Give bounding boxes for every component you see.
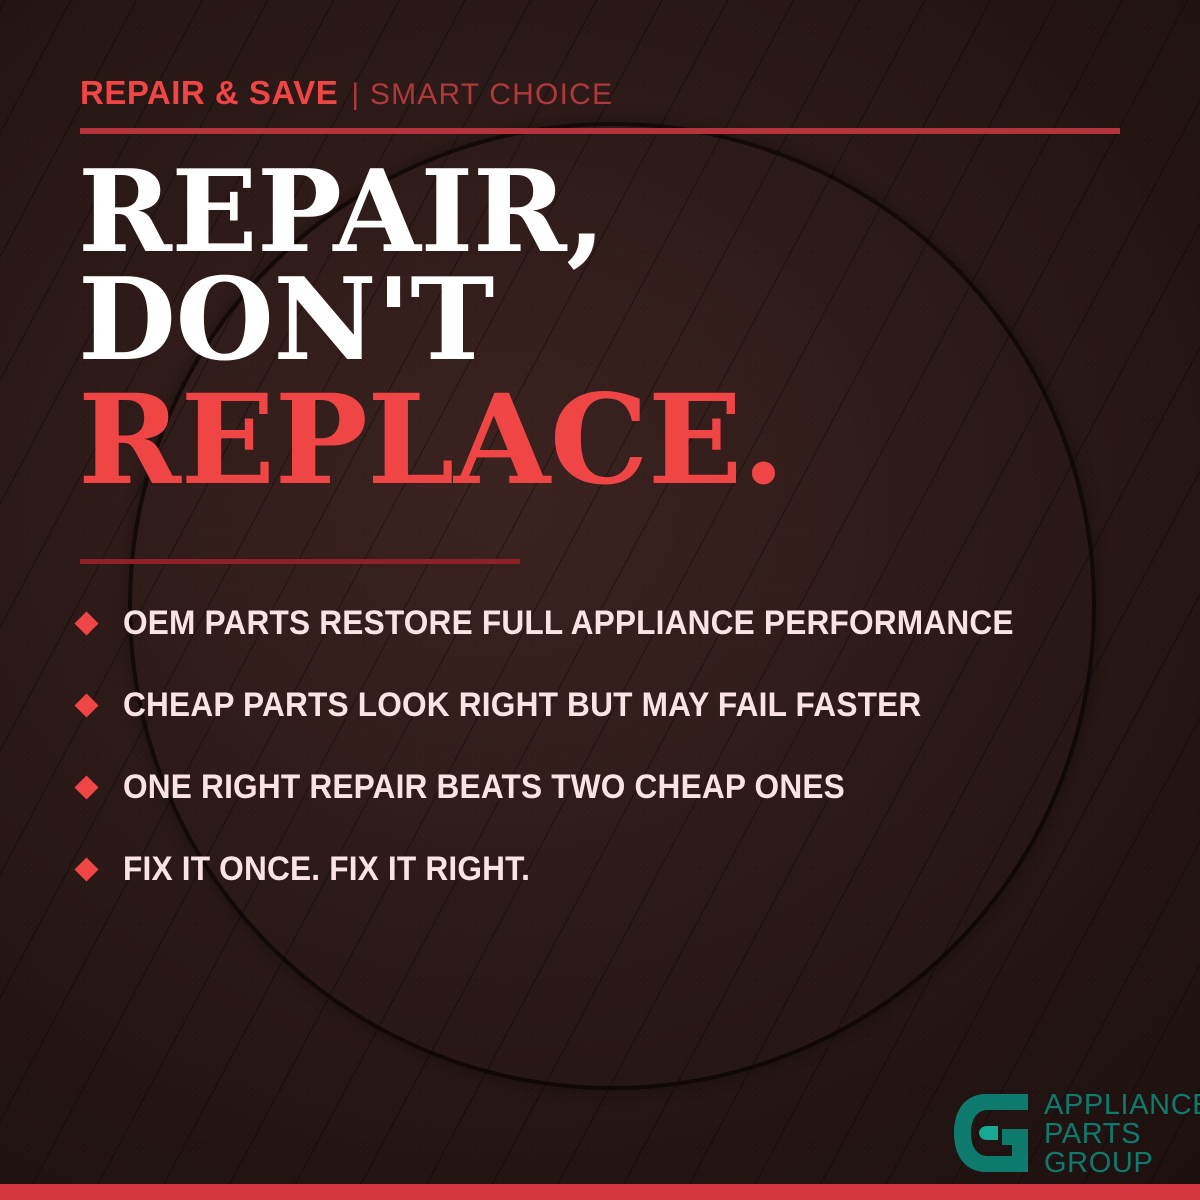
eyebrow: REPAIR & SAVE | SMART CHOICE [80,74,613,112]
list-item: FIX IT ONCE. FIX IT RIGHT. [78,828,1158,910]
list-item-label: CHEAP PARTS LOOK RIGHT BUT MAY FAIL FAST… [123,686,921,725]
diamond-bullet-icon [74,857,98,881]
footer-accent-bar [0,1184,1200,1200]
headline-line-2: DON'T [78,266,785,374]
diamond-bullet-icon [74,611,98,635]
brand-logo-line-2: PARTS [1044,1120,1200,1149]
list-item: ONE RIGHT REPAIR BEATS TWO CHEAP ONES [78,746,1158,828]
list-item-label: ONE RIGHT REPAIR BEATS TWO CHEAP ONES [123,768,845,807]
page-title: REPAIR, DON'T REPLACE. [78,158,785,500]
brand-logo-line-3: GROUP [1044,1149,1200,1178]
g-monogram-icon [950,1090,1032,1176]
list-item: CHEAP PARTS LOOK RIGHT BUT MAY FAIL FAST… [78,664,1158,746]
eyebrow-secondary-label: | SMART CHOICE [351,78,613,112]
headline-divider [80,559,520,564]
list-item-label: OEM PARTS RESTORE FULL APPLIANCE PERFORM… [123,604,1014,643]
benefits-list: OEM PARTS RESTORE FULL APPLIANCE PERFORM… [78,582,1158,910]
eyebrow-primary-label: REPAIR & SAVE [80,74,338,112]
list-item: OEM PARTS RESTORE FULL APPLIANCE PERFORM… [78,582,1158,664]
poster-content: REPAIR & SAVE | SMART CHOICE REPAIR, DON… [0,0,1200,1200]
promo-poster: REPAIR & SAVE | SMART CHOICE REPAIR, DON… [0,0,1200,1200]
headline-line-3: REPLACE. [78,381,785,500]
brand-logo-wordmark: APPLIANCE PARTS GROUP [1044,1091,1200,1178]
diamond-bullet-icon [74,775,98,799]
brand-logo-line-1: APPLIANCE [1044,1091,1200,1120]
diamond-bullet-icon [74,693,98,717]
brand-logo: APPLIANCE PARTS GROUP [950,1090,1200,1178]
header-divider [80,128,1120,134]
headline-line-1: REPAIR, [78,158,785,266]
list-item-label: FIX IT ONCE. FIX IT RIGHT. [123,850,530,889]
